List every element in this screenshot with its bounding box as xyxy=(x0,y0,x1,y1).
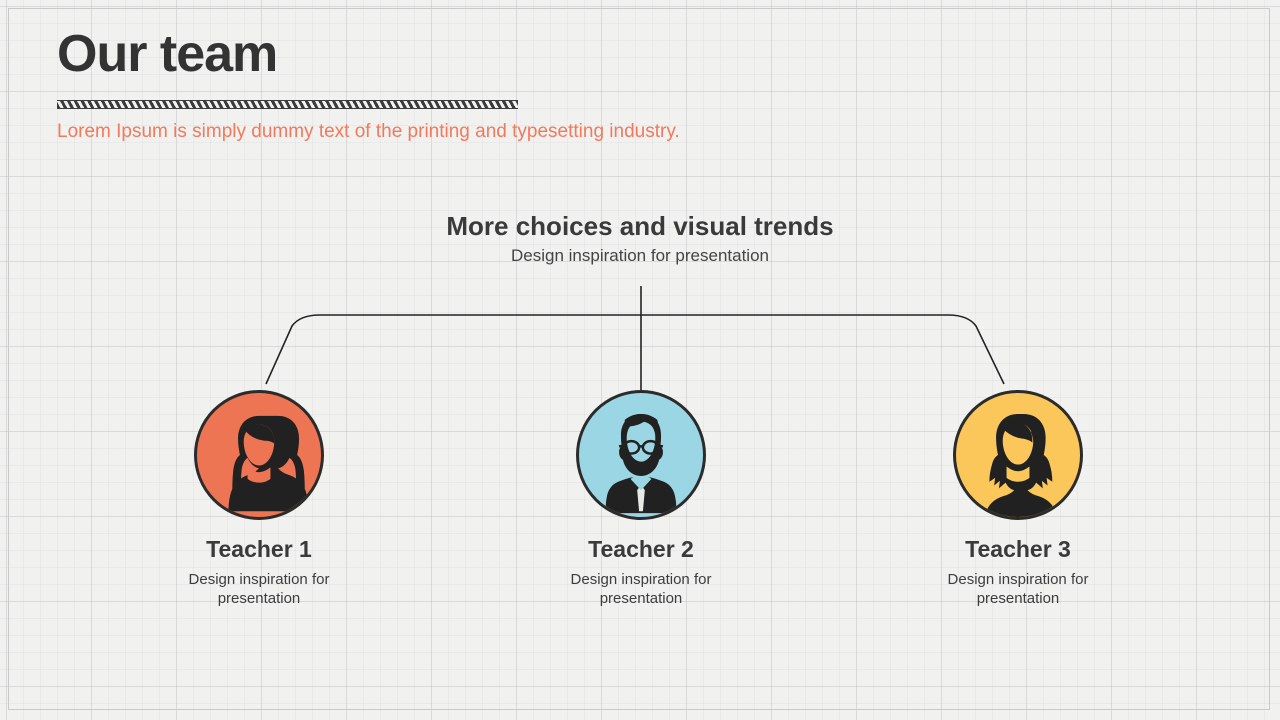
female-long-hair-avatar-icon xyxy=(197,393,321,517)
male-glasses-tie-avatar-icon xyxy=(579,393,703,517)
center-subheading: Design inspiration for presentation xyxy=(0,246,1280,266)
center-heading: More choices and visual trends xyxy=(0,211,1280,242)
avatar[interactable] xyxy=(576,390,706,520)
member-description: Design inspiration for presentation xyxy=(511,571,771,609)
page-subtitle: Lorem Ipsum is simply dummy text of the … xyxy=(57,121,680,143)
team-member-1[interactable]: Teacher 1 Design inspiration for present… xyxy=(129,390,389,609)
member-name: Teacher 3 xyxy=(888,536,1148,563)
member-description: Design inspiration for presentation xyxy=(888,571,1148,609)
member-description: Design inspiration for presentation xyxy=(129,571,389,609)
female-layered-hair-avatar-icon xyxy=(956,393,1080,517)
title-divider-rope xyxy=(57,100,518,109)
avatar[interactable] xyxy=(953,390,1083,520)
page-title: Our team xyxy=(57,28,277,80)
team-member-2[interactable]: Teacher 2 Design inspiration for present… xyxy=(511,390,771,609)
avatar[interactable] xyxy=(194,390,324,520)
member-name: Teacher 2 xyxy=(511,536,771,563)
slide-canvas: Our team Lorem Ipsum is simply dummy tex… xyxy=(0,0,1280,720)
member-name: Teacher 1 xyxy=(129,536,389,563)
team-member-3[interactable]: Teacher 3 Design inspiration for present… xyxy=(888,390,1148,609)
